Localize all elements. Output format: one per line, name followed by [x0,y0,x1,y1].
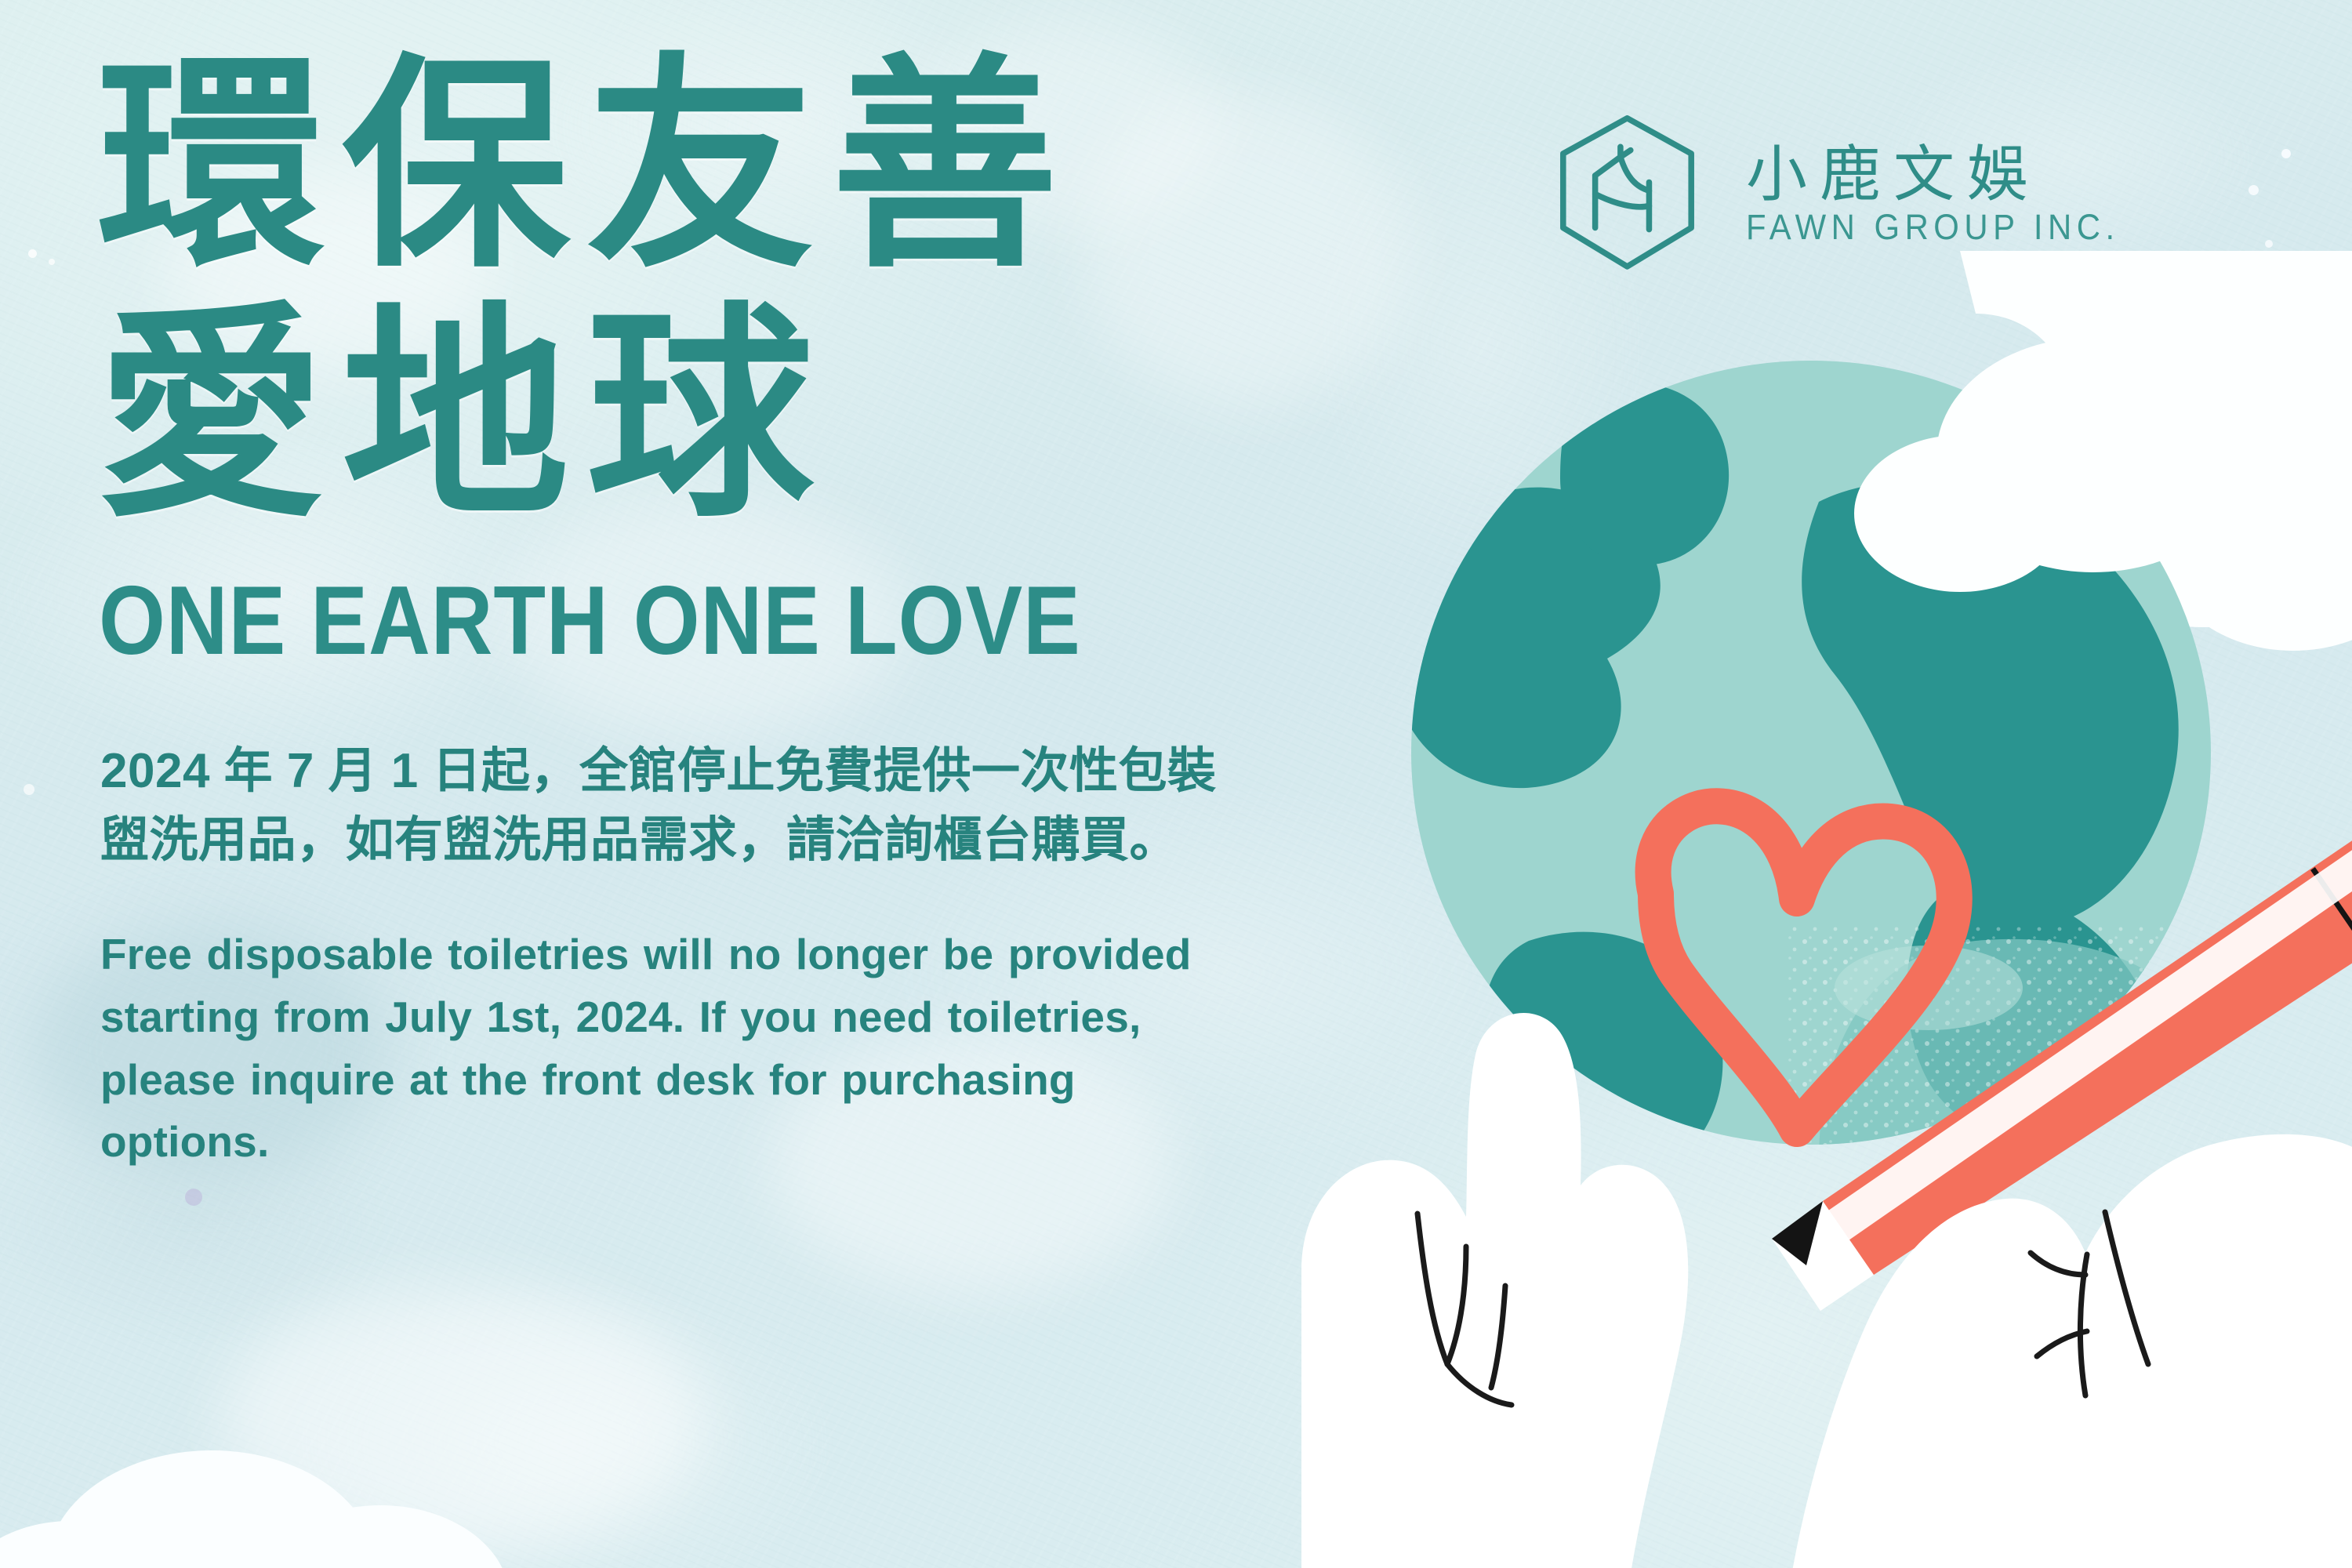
confetti-dot [2281,149,2291,158]
tagline: ONE EARTH ONE LOVE [99,572,1211,670]
confetti-dot [49,259,55,265]
confetti-dot [2249,185,2259,195]
headline-line-1: 環保友善 [97,55,1363,282]
notice-paragraph-zh: 2024 年 7 月 1 日起，全館停止免費提供一次性包裝盥洗用品，如有盥洗用品… [100,737,1245,875]
confetti-dot [2265,240,2273,248]
cloud-icon [0,1356,549,1568]
confetti-dot [28,249,37,258]
notice-paragraph-en: Free disposable toiletries will no longe… [100,924,1214,1174]
confetti-dot [24,784,34,795]
earth-illustration [1270,345,2352,1568]
eco-notice-poster: 小鹿文娛 FAWN GROUP INC. [0,0,2352,1568]
hexagon-fawn-icon [1543,110,1711,278]
logo-name-cn: 小鹿文娛 [1746,143,2148,205]
text-column: 環保友善 愛地球 ONE EARTH ONE LOVE 2024 年 7 月 1… [93,55,1363,1217]
page-title: 環保友善 愛地球 [93,55,1363,532]
logo-name-en: FAWN GROUP INC. [1746,209,2120,245]
headline-line-2: 愛地球 [97,304,1363,532]
